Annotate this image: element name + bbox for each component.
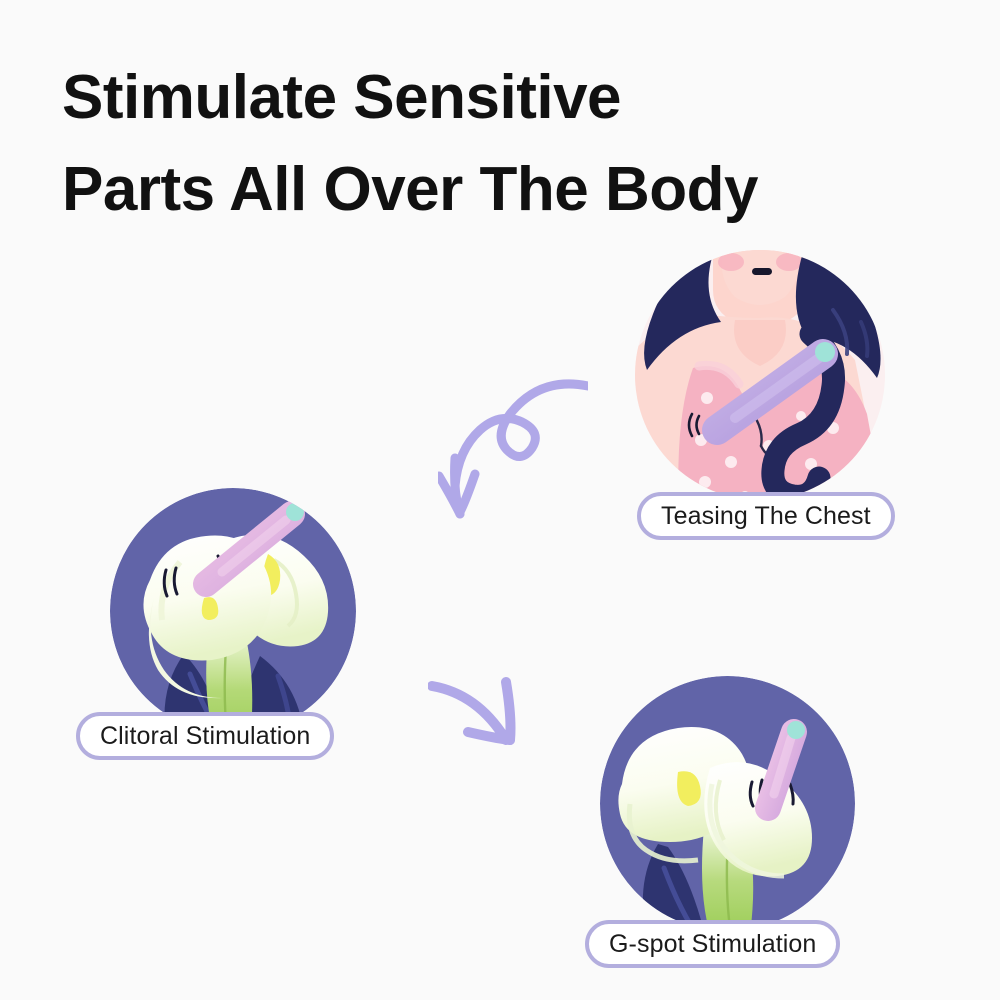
label-gspot-stimulation[interactable]: G-spot Stimulation [585, 920, 840, 968]
label-text: G-spot Stimulation [609, 930, 816, 959]
calla-lily-illustration-gspot [600, 676, 855, 931]
label-text: Teasing The Chest [661, 502, 871, 531]
curved-arrow-down-right-icon [428, 662, 558, 774]
page-title: Stimulate Sensitive Parts All Over The B… [62, 52, 892, 236]
chest-illustration [635, 250, 885, 500]
label-text: Clitoral Stimulation [100, 722, 310, 751]
curved-loop-arrow-down-left-icon [438, 368, 588, 523]
infographic-stage: Stimulate Sensitive Parts All Over The B… [0, 0, 1000, 1000]
label-teasing-the-chest[interactable]: Teasing The Chest [637, 492, 895, 540]
label-clitoral-stimulation[interactable]: Clitoral Stimulation [76, 712, 334, 760]
calla-lily-illustration-clitoral [110, 488, 356, 734]
